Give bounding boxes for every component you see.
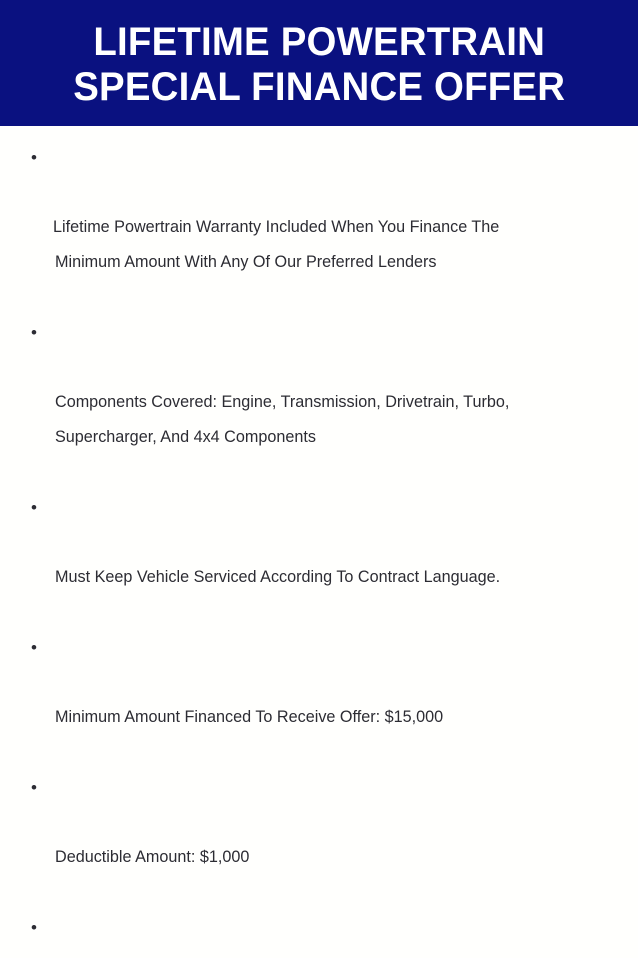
offer-terms-list: • Lifetime Powertrain Warranty Included … <box>18 140 620 958</box>
slide-title-line-2: SPECIAL FINANCE OFFER <box>73 65 565 110</box>
list-item-text: Minimum Amount Financed To Receive Offer… <box>55 700 620 735</box>
list-item-text: Components Covered: Engine, Transmission… <box>55 385 620 455</box>
list-item: • Deductible Amount: $1,000 <box>18 770 620 910</box>
slide-title-line-1: LIFETIME POWERTRAIN <box>93 20 545 65</box>
list-item: • Minimum Amount Financed To Receive Off… <box>18 630 620 770</box>
bullet-dot-icon: • <box>31 770 37 805</box>
offer-slide: LIFETIME POWERTRAIN SPECIAL FINANCE OFFE… <box>0 0 638 479</box>
bullet-dot-icon: • <box>31 315 37 350</box>
list-item: • Must Keep Vehicle Serviced According T… <box>18 490 620 630</box>
bullet-dot-icon: • <box>31 140 37 175</box>
bullet-dot-icon: • <box>31 630 37 665</box>
list-item-text: Deductible Amount: $1,000 <box>55 840 620 875</box>
list-item: • Components Covered: Engine, Transmissi… <box>18 315 620 490</box>
slide-header-band: LIFETIME POWERTRAIN SPECIAL FINANCE OFFE… <box>0 0 638 126</box>
list-item: • Non-Transferable <box>18 910 620 958</box>
list-item: • Lifetime Powertrain Warranty Included … <box>18 140 620 315</box>
slide-body: • Lifetime Powertrain Warranty Included … <box>0 126 638 958</box>
bullet-dot-icon: • <box>31 910 37 945</box>
list-item-text: Must Keep Vehicle Serviced According To … <box>55 560 620 595</box>
bullet-dot-icon: • <box>31 490 37 525</box>
list-item-text: Lifetime Powertrain Warranty Included Wh… <box>55 210 620 280</box>
